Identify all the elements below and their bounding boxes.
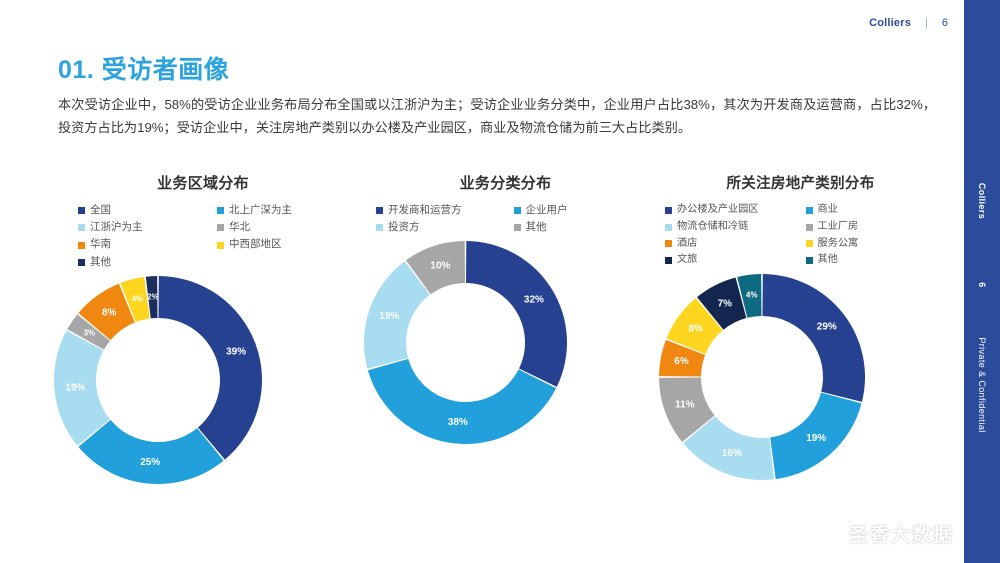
legend-label: 开发商和运营方 <box>388 203 462 218</box>
slice-value-label: 3% <box>84 328 96 337</box>
legend-item[interactable]: 其他 <box>514 220 646 235</box>
legend-label: 投资方 <box>388 220 420 235</box>
slice-value-label: 16% <box>722 448 742 459</box>
slice-value-label: 11% <box>675 400 695 411</box>
legend-label: 其他 <box>818 253 838 268</box>
legend-swatch <box>806 257 813 264</box>
slice-value-label: 2% <box>147 292 159 301</box>
chart-legend: 办公楼及产业园区商业物流仓储和冷链工业厂房酒店服务公寓文旅其他 <box>653 203 948 268</box>
slice-value-label: 19% <box>379 311 399 322</box>
slice-value-label: 7% <box>718 299 733 310</box>
slice-value-label: 38% <box>448 418 468 429</box>
legend-label: 北上广深为主 <box>229 203 292 218</box>
slice-value-label: 19% <box>65 382 85 393</box>
legend-swatch <box>217 224 224 231</box>
legend-item[interactable]: 投资方 <box>376 220 508 235</box>
legend-swatch <box>806 240 813 247</box>
legend-item[interactable]: 企业用户 <box>514 203 646 218</box>
slice-value-label: 29% <box>817 321 837 332</box>
slice-value-label: 6% <box>674 356 689 367</box>
slice-value-label: 19% <box>806 433 826 444</box>
charts-row: 业务区域分布 全国北上广深为主江浙沪为主华北华南中西部地区其他 39%25%19… <box>48 172 948 542</box>
legend-item[interactable]: 江浙沪为主 <box>78 220 211 235</box>
chart-legend: 开发商和运营方企业用户投资方其他 <box>358 203 653 235</box>
chart-title: 所关注房地产类别分布 <box>653 172 948 193</box>
slice-value-label: 4% <box>746 291 758 300</box>
legend-swatch <box>514 207 521 214</box>
legend-item[interactable]: 开发商和运营方 <box>376 203 508 218</box>
legend-label: 物流仓储和冷链 <box>677 220 748 235</box>
chart-panel-business-region: 业务区域分布 全国北上广深为主江浙沪为主华北华南中西部地区其他 39%25%19… <box>48 172 358 542</box>
legend-label: 中西部地区 <box>229 237 282 252</box>
legend-label: 文旅 <box>677 253 697 268</box>
legend-swatch <box>665 240 672 247</box>
legend-item[interactable]: 文旅 <box>665 253 800 268</box>
legend-item[interactable]: 工业厂房 <box>806 220 941 235</box>
slice-value-label: 39% <box>226 346 246 357</box>
chart-panel-property-type: 所关注房地产类别分布 办公楼及产业园区商业物流仓储和冷链工业厂房酒店服务公寓文旅… <box>653 172 948 542</box>
legend-item[interactable]: 其他 <box>78 255 211 270</box>
slice-value-label: 4% <box>132 295 144 304</box>
legend-swatch <box>217 207 224 214</box>
legend-label: 全国 <box>90 203 111 218</box>
donut-slice[interactable] <box>762 274 865 402</box>
slide-canvas: Colliers 6 Private & Confidential Collie… <box>0 0 1000 563</box>
legend-swatch <box>665 257 672 264</box>
chart-title: 业务区域分布 <box>48 172 358 193</box>
slice-value-label: 32% <box>524 295 544 306</box>
chart-panel-business-category: 业务分类分布 开发商和运营方企业用户投资方其他 32%38%19%10% <box>358 172 653 542</box>
legend-swatch <box>376 207 383 214</box>
legend-label: 酒店 <box>677 237 697 252</box>
donut-chart: 39%25%19%3%8%4%2% <box>48 270 358 490</box>
chart-legend: 全国北上广深为主江浙沪为主华北华南中西部地区其他 <box>48 203 358 270</box>
donut-svg: 32%38%19%10% <box>358 235 573 450</box>
legend-swatch <box>78 242 85 249</box>
legend-label: 工业厂房 <box>818 220 859 235</box>
legend-swatch <box>665 207 672 214</box>
header-separator: | <box>925 17 928 29</box>
legend-swatch <box>78 224 85 231</box>
right-brand-bar: Colliers 6 Private & Confidential <box>964 0 1000 563</box>
donut-svg: 39%25%19%3%8%4%2% <box>48 270 268 490</box>
sidebar-confidential-note: Private & Confidential <box>977 337 987 432</box>
legend-swatch <box>806 224 813 231</box>
legend-swatch <box>78 259 85 266</box>
legend-swatch <box>217 242 224 249</box>
legend-item[interactable]: 华北 <box>217 220 350 235</box>
legend-swatch <box>806 207 813 214</box>
legend-swatch <box>376 224 383 231</box>
sidebar-brand: Colliers <box>977 183 987 219</box>
slide-header: Colliers | 6 <box>869 17 948 29</box>
donut-chart: 29%19%16%11%6%8%7%4% <box>653 268 948 486</box>
legend-label: 办公楼及产业园区 <box>677 203 759 218</box>
legend-label: 华北 <box>229 220 250 235</box>
slice-value-label: 8% <box>102 307 117 318</box>
legend-item[interactable]: 其他 <box>806 253 941 268</box>
legend-label: 服务公寓 <box>818 237 859 252</box>
slice-value-label: 10% <box>430 261 450 272</box>
header-brand: Colliers <box>869 17 911 29</box>
chart-title: 业务分类分布 <box>358 172 653 193</box>
donut-slice[interactable] <box>466 241 567 387</box>
legend-label: 江浙沪为主 <box>90 220 143 235</box>
legend-item[interactable]: 全国 <box>78 203 211 218</box>
legend-label: 商业 <box>818 203 838 218</box>
legend-label: 华南 <box>90 237 111 252</box>
page-title: 01. 受访者画像 <box>58 50 229 86</box>
legend-item[interactable]: 中西部地区 <box>217 237 350 252</box>
legend-item[interactable]: 物流仓储和冷链 <box>665 220 800 235</box>
legend-swatch <box>514 224 521 231</box>
legend-label: 其他 <box>526 220 547 235</box>
legend-item[interactable]: 办公楼及产业园区 <box>665 203 800 218</box>
legend-item[interactable]: 华南 <box>78 237 211 252</box>
donut-svg: 29%19%16%11%6%8%7%4% <box>653 268 871 486</box>
donut-chart: 32%38%19%10% <box>358 235 653 450</box>
slice-value-label: 8% <box>688 324 703 335</box>
donut-slice[interactable] <box>158 276 262 460</box>
legend-label: 企业用户 <box>526 203 568 218</box>
legend-swatch <box>78 207 85 214</box>
legend-item[interactable]: 服务公寓 <box>806 237 941 252</box>
legend-item[interactable]: 商业 <box>806 203 941 218</box>
legend-item[interactable]: 北上广深为主 <box>217 203 350 218</box>
legend-label: 其他 <box>90 255 111 270</box>
legend-item[interactable]: 酒店 <box>665 237 800 252</box>
sidebar-page-number: 6 <box>977 282 987 287</box>
legend-swatch <box>665 224 672 231</box>
slice-value-label: 25% <box>140 457 160 468</box>
header-page-number: 6 <box>942 17 948 29</box>
slide-body-text: 本次受访企业中，58%的受访企业业务布局分布全国或以江浙沪为主；受访企业业务分类… <box>58 94 936 139</box>
